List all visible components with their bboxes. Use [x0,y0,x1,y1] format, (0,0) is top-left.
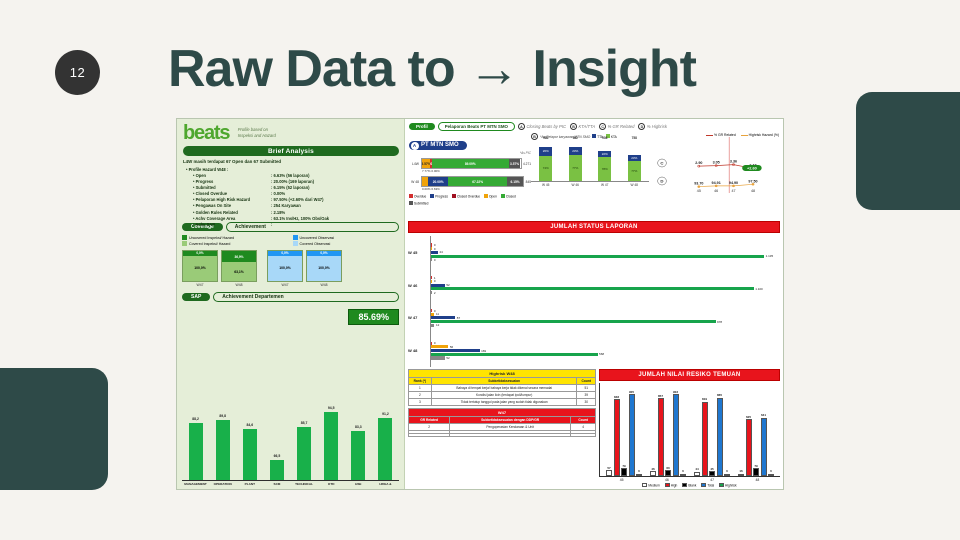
department-bar: 88,2 [189,423,203,480]
department-bar: 91,2 [378,418,392,480]
marker-c: C% GR Related [599,123,634,130]
risk-bar-value: 60 [666,466,669,470]
status-bar-closed: 1.135 [431,255,778,258]
risk-x-label: 46 [665,478,669,482]
pt-mtn-smo-label: PT MTN SMO [421,142,459,148]
risk-bar-value: 848 [614,395,619,399]
table-column-header: Count [577,378,596,385]
legend-swatch [409,194,413,198]
table-row: 2Pengoperasian Kendaraan & Unit4 [409,424,596,431]
table-row: 3Tidak tertutup tanggul pada jalan yang … [409,399,596,406]
risk-bar-value: 44 [695,467,698,471]
bar-fill [431,309,432,312]
coverage-charts: 0,0%100,0%W4736,9%63,1%W480,0%100,0%W470… [182,250,399,287]
coverage-legend-item: Uncovered Inspeksi/ Hazard [182,235,289,240]
coverage-legend-item: Covered Inspeksi/ Hazard [182,241,289,246]
status-y-label: W 47 [408,315,430,320]
status-bar-overdue: 1 [431,276,778,279]
tables-column: Highrisk W48 Rank (*)SubketidaksesuaianC… [408,369,596,487]
svg-text:C: C [660,161,663,166]
gr-table: W47 GR RelatedSubketidaksesuaian dengan … [408,408,596,437]
department-bar: 84,6 [243,429,257,480]
stacked-bar-row: L4W3.57%0.00%89.09%3.57%4.271 [409,158,531,169]
risk-bar-group: 46857609030 [650,383,686,476]
tta-segment: 26% [539,147,552,156]
coverage-uncovered: 36,9% [222,251,256,262]
status-bar-submitted: 52 [431,356,778,359]
risk-bar-highrisk: 0 [636,474,642,476]
status-bar-group: 05616956852 [431,341,778,361]
decorative-shape-top-right [856,92,960,210]
status-bar-value: 2 [434,291,436,295]
stacked-bar-label: L4W [409,162,421,166]
page-number-badge: 12 [55,50,100,95]
status-bar-open: 0 [431,280,778,283]
status-bar-group: 10521.1002 [431,275,778,295]
bar-fill [431,287,754,290]
risk-bar-value: 46 [651,467,654,471]
table-cell: 1 [409,385,432,392]
bar-fill [431,258,432,261]
risk-bar-value: 905 [629,390,634,394]
bar-fill [431,243,432,246]
brief-row-key: • Achv SAP [193,222,271,228]
status-bar-overdue: 0 [431,243,778,246]
risk-bar-value: 0 [682,469,684,473]
department-bar: 89,8 [216,420,230,480]
line-value-label: 97.50 [748,179,757,183]
column-bar: 98326%74% [539,142,552,181]
column-x-label: W 47 [601,183,608,187]
risk-bar-medium: 16 [738,474,744,476]
line-value-label: 2.90 [695,161,702,165]
marker-b-icon: B [570,123,577,130]
risk-bar-value: 0 [770,469,772,473]
coverage-legend-item: Covered Observasi [293,241,400,246]
coverage-legend-left: Uncovered Inspeksi/ HazardCovered Inspek… [182,235,289,247]
kta-tta-columns: 98326%74%98223%77%90822%78%75823%77% [531,142,649,182]
coverage-stack: 0,0%100,0% [182,250,218,282]
risk-bar-value: 79 [622,464,625,468]
marker-a-icon: A [518,123,525,130]
table-cell: 4 [571,424,596,431]
risk-bar-value: 903 [673,390,678,394]
brief-row-value: : [271,222,399,228]
department-label: TECHNICAL [291,482,318,486]
table-cell: 3 [409,399,432,406]
line-x-label: 45 [697,189,701,193]
marker-label: % Highrisk [647,124,667,129]
risk-bar-medium: 46 [650,471,656,475]
line-value-label: 94.91 [712,181,721,185]
risk-bar-group: 44819458650 [694,383,730,476]
status-bar-progress: 52 [431,284,778,287]
pane-a-axis-note: *As PIC [409,151,531,155]
department-value: 84,6 [247,423,254,427]
risk-bar-value: 865 [717,393,722,397]
legend-item: Closed Overdue [452,194,480,199]
column-bar: 98223%77% [569,142,582,181]
coverage-legend-item: Uncovered Observasi [293,235,400,240]
brief-analysis-header: Brief Analysis [183,146,399,156]
risk-bar-blank: 79 [621,468,627,475]
status-bar-group: 0118797812 [431,308,778,328]
decorative-shape-bottom-left [0,368,108,490]
table-cell [450,434,571,437]
status-bar-progress: 87 [431,316,778,319]
department-value: 91,2 [382,412,389,416]
kta-segment: 77% [628,161,641,181]
line-point [732,185,734,187]
segment-closed: 89.09% [432,159,509,168]
department-label: MANAGEMENT [182,482,209,486]
department-value: 85,7 [301,421,308,425]
bar-fill [431,342,432,345]
marker-b: BKTA/TTA [570,123,595,130]
table-row: 2Kondisi jalan licin (terdapat ipoli/lum… [409,392,596,399]
highrisk-table-header: Rank (*)SubketidaksesuaianCount [409,378,596,385]
status-y-label: W 48 [408,348,430,353]
department-label: HRGA & [372,482,399,486]
kta-segment: 77% [569,155,582,181]
tagline-line-1: Profile based on [238,127,268,132]
marker-legend-list: AClosing Beats by PICBKTA/TTAC% GR Relat… [518,123,667,130]
department-value: 66,5 [274,454,281,458]
risk-bar-value: 57 [607,466,610,470]
risk-bar-value: 625 [746,415,751,419]
risk-bar-highrisk: 0 [768,474,774,476]
stacked-bar-label: W 48 [409,180,421,184]
coverage-bar: 0,0%100,0%W48 [306,250,342,287]
status-bar-progress: 24 [431,251,778,254]
department-label: OTD [318,482,345,486]
table-cell: 39 [577,392,596,399]
bar-fill [431,316,455,319]
stacked-bar-track: 3.57%0.00%89.09%3.57% [421,158,522,169]
status-bar-open: 0 [431,247,778,250]
marker-d: D% Highrisk [638,123,667,130]
table-row [409,434,596,437]
legend-item: Open [484,194,497,199]
risk-x-label: 47 [710,478,714,482]
kta-tta-x-labels: W 45W 46W 47W 48 [531,183,649,187]
coverage-group-observasi: 0,0%100,0%W470,0%100,0%W48 [267,250,342,287]
risk-bar-high: 857 [658,398,664,475]
highrisk-table-body: 1Bahaya di tempat kerja/ bahaya kerja ti… [409,385,596,406]
risk-bar-value: 857 [658,394,663,398]
department-value: 94,5 [328,406,335,410]
status-bar-value: 0 [434,258,436,262]
status-bar-closed: 978 [431,320,778,323]
status-chart-plot: W 45W 46W 47W 48 00241.135010521.1002011… [408,233,780,367]
bar-fill [431,291,432,294]
gr-highrisk-pane: % GR Related Highrisk Hazard (%) 2.903.0… [649,133,779,195]
table-row: 1Bahaya di tempat kerja/ bahaya kerja ti… [409,385,596,392]
coverage-bar: 36,9%63,1%W48 [221,250,257,287]
table-cell [571,434,596,437]
risk-bar-value: 45 [710,467,713,471]
table-cell: Bahaya di tempat kerja/ bahaya kerja tid… [431,385,577,392]
segment-submitted: 6.15% [507,177,523,186]
legend-swatch [409,201,413,205]
segment-closed: 67.22% [448,177,507,186]
table-column-header: Count [571,417,596,424]
coverage-x-label: W47 [182,283,218,287]
status-y-label: W 46 [408,283,430,288]
department-label: OPERATION [209,482,236,486]
status-bar-closed: 1.100 [431,287,778,290]
sap-achievement-label: Achievement Departemen [213,292,399,302]
dashboard-top-section: beats Profile based on Inspeksi and Haza… [177,119,783,219]
risk-chart: JUMLAH NILAI RESIKO TEMUAN 5784879905046… [599,369,780,487]
top-right-charts: A PT MTN SMO *As PIC L4W3.57%0.00%89.09%… [409,133,779,195]
line-point [715,185,717,187]
closing-beats-pane: A PT MTN SMO *As PIC L4W3.57%0.00%89.09%… [409,133,531,195]
department-bar: 94,5 [324,412,338,480]
line-value-label: 93.70 [694,182,703,186]
bar-fill [431,247,432,250]
column-total: 758 [632,136,637,140]
status-chart-title: JUMLAH STATUS LAPORAN [408,221,780,233]
marker-label: KTA/TTA [579,124,596,129]
highrisk-table: Highrisk W48 Rank (*)SubketidaksesuaianC… [408,369,596,406]
status-bar-submitted: 2 [431,291,778,294]
highrisk-table-title: Highrisk W48 [409,370,596,378]
table-cell: 30 [577,399,596,406]
gr-table-title: W47 [409,409,596,417]
department-label: SCM [263,482,290,486]
table-cell: 51 [577,385,596,392]
department-value: 89,8 [219,414,226,418]
risk-bar-value: 0 [726,469,728,473]
profil-chip: Profil [409,123,435,130]
pt-mtn-smo-badge: A PT MTN SMO [409,141,467,150]
status-bar-open: 11 [431,313,778,316]
bar-fill [431,255,764,258]
legend-item: Highrisk [719,483,737,488]
risk-bar-value: 641 [761,413,766,417]
marker-b-icon: B [531,133,538,140]
legend-swatch [484,194,488,198]
coverage-x-label: W48 [221,283,257,287]
legend-item: Progress [430,194,448,199]
coverage-group-inspeksi: 0,0%100,0%W4736,9%63,1%W48 [182,250,257,287]
risk-bar-total: 905 [629,394,635,475]
bar-fill [431,276,432,279]
table-cell: 2 [409,424,450,431]
risk-bar-blank: 45 [709,471,715,475]
risk-bar-group: 16625796410 [738,383,774,476]
bar-fill [431,320,716,323]
status-chart-y-labels: W 45W 46W 47W 48 [408,236,430,367]
gr-highrisk-line-chart: 2.903.053.362.1893.7094.9194.9097.50 C D… [649,137,779,193]
line-value-label: 94.90 [729,181,738,185]
marker-label: Closing Beats by PIC [526,124,566,129]
bar-fill [431,353,598,356]
sap-achievement-badge: 85.69% [348,309,399,325]
line-chart-svg: 2.903.053.362.1893.7094.9194.9097.50 C D… [649,137,779,193]
legend-item: Closed [501,194,516,199]
risk-bar-total: 641 [761,418,767,476]
risk-chart-x-labels: 45464748 [599,478,780,482]
risk-bar-group: 57848799050 [606,383,642,476]
risk-chart-legend: MediumHighBlankTotalHighrisk [599,483,780,488]
table-cell: Pengoperasian Kendaraan & Unit [450,424,571,431]
coverage-stack: 36,9%63,1% [221,250,257,282]
bar-fill [431,284,445,287]
status-bar-overdue: 0 [431,309,778,312]
status-bar-closed: 568 [431,353,778,356]
dashboard-body: Coverage Achievement Uncovered Inspeksi/… [177,219,783,489]
line-x-label: 48 [751,189,755,193]
marker-label: % GR Related [608,124,635,129]
risk-bar-blank: 60 [665,470,671,475]
marker-c-icon: C [599,123,606,130]
risk-bar-highrisk: 0 [724,474,730,476]
department-chart: 88,289,884,666,585,794,583,391,2 MANAGEM… [182,329,399,486]
column-bar: 75823%77% [628,142,641,181]
bar-fill [431,349,480,352]
bar-fill [431,324,434,327]
page-title: Raw Data to → Insight [168,42,848,97]
table-column-header: GR Related [409,417,450,424]
tta-segment: 23% [569,147,582,155]
column-total: 982 [573,136,578,140]
legend-item: High [665,483,678,488]
risk-bar-total: 903 [673,394,679,475]
legend-item: Medium [642,483,659,488]
coverage-covered: 100,0% [307,256,341,281]
legend-item: Overdue [409,194,426,199]
department-bar: 85,7 [297,427,311,480]
bar-fill [431,280,432,283]
status-bar-value: 12 [436,323,439,327]
line-point [698,186,700,188]
stacked-bar-sublabel: 7.77% 0.00% [409,169,531,173]
department-bar: 83,3 [351,431,365,479]
department-bar: 66,5 [270,460,284,480]
legend-item: Blank [682,483,696,488]
coverage-sap-column: Coverage Achievement Uncovered Inspeksi/… [177,219,405,489]
dashboard-header-strip: Profil Pelaporan Beats PT MTN SMO AClosi… [405,119,783,219]
sap-pill: SAP [182,293,210,301]
risk-bar-value: 0 [638,469,640,473]
svg-text:+2.60: +2.60 [747,167,757,171]
coverage-x-label: W48 [306,283,342,287]
brief-analysis-panel: beats Profile based on Inspeksi and Haza… [177,119,405,219]
risk-bar-medium: 57 [606,470,612,475]
header-chip-row: Profil Pelaporan Beats PT MTN SMO AClosi… [409,122,779,131]
legend-swatch [430,194,434,198]
status-bar-progress: 169 [431,349,778,352]
status-y-label: W 45 [408,250,430,255]
status-bar-submitted: 12 [431,324,778,327]
risk-bar-value: 16 [739,469,742,473]
risk-bar-blank: 79 [753,468,759,475]
brief-analysis-body: L4W masih terdapat 67 Open dan 67 Submit… [183,159,399,228]
table-column-header: Subketidaksesuaian [431,378,577,385]
column-x-label: W 45 [542,183,549,187]
bar-fill [431,345,448,348]
tta-segment: 22% [598,151,611,158]
risk-bar-highrisk: 0 [680,474,686,476]
stacked-bar-sublabel: 0.00% 6.63% [409,187,531,191]
legend-swatch [452,194,456,198]
legend-item: Submitted [409,201,428,206]
risk-bar-total: 865 [717,398,723,476]
tagline-line-2: Inspeksi and Hazard [238,133,276,138]
line-x-label: 46 [714,189,718,193]
risk-bar-value: 819 [702,397,707,401]
pane-a-legend: OverdueProgressClosed OverdueOpenClosedS… [409,194,531,205]
department-label: PLANT [236,482,263,486]
sap-pill-row: SAP Achievement Departemen [182,292,399,302]
department-bars: 88,289,884,666,585,794,583,391,2 [182,403,399,481]
coverage-bar: 0,0%100,0%W47 [182,250,218,287]
bar-fill [431,251,438,254]
beats-logo: beats [183,123,229,143]
line-value-label: 3.36 [730,160,737,164]
table-cell: 2 [409,392,432,399]
marker-d-icon: D [638,123,645,130]
coverage-covered: 63,1% [222,262,256,281]
status-bar-submitted: 0 [431,258,778,261]
stacked-bar-rows: L4W3.57%0.00%89.09%3.57%4.2717.77% 0.00%… [409,158,531,191]
column-x-label: W 46 [572,183,579,187]
risk-bar-high: 625 [746,419,752,475]
coverage-stack: 0,0%100,0% [306,250,342,282]
department-label: HSE [345,482,372,486]
legend-swatch [501,194,505,198]
column-x-label: W 48 [631,183,638,187]
coverage-legend: Uncovered Inspeksi/ HazardCovered Inspek… [182,235,399,247]
risk-bar-value: 79 [754,464,757,468]
brief-row-list: • Open: 6.63% (56 laporan)• Progress: 20… [183,173,399,228]
status-risk-column: JUMLAH STATUS LAPORAN W 45W 46W 47W 48 0… [405,219,783,489]
department-value: 88,2 [192,417,199,421]
column-bar: 90822%78% [598,142,611,181]
risk-bar-high: 819 [702,402,708,476]
stacked-bar-total: 4.271 [523,162,531,166]
marker-a: AClosing Beats by PIC [518,123,566,130]
bar-fill [431,313,434,316]
table-cell: Tidak tertutup tanggul pada jalan yang s… [431,399,577,406]
table-column-header: Rank (*) [409,378,432,385]
line-value-label: 3.05 [713,161,720,165]
risk-x-label: 48 [755,478,759,482]
department-value: 83,3 [355,425,362,429]
coverage-covered: 100,0% [268,256,302,281]
kta-segment: 78% [598,157,611,181]
legend-item: Total [701,483,714,488]
beats-tagline: Profile based on Inspeksi and Hazard [238,127,276,139]
stacked-bar-row: W 4820.00%67.22%6.15%845 [409,176,531,187]
coverage-x-label: W47 [267,283,303,287]
kta-segment: 74% [539,156,552,181]
segment-open: 3.57% [422,159,430,168]
gr-table-header: GR RelatedSubketidaksesuaian dengan DDP/… [409,417,596,424]
status-chart-bars: 00241.135010521.100201187978120561695685… [430,236,778,367]
svg-text:D: D [660,179,663,184]
department-x-labels: MANAGEMENTOPERATIONPLANTSCMTECHNICALOTDH… [182,482,399,486]
table-cell [409,434,450,437]
table-cell: Kondisi jalan licin (terdapat ipoli/lump… [431,392,577,399]
marker-a-icon: A [411,142,419,150]
coverage-covered: 100,0% [183,256,217,281]
profil-label-chip: Pelaporan Beats PT MTN SMO [438,122,515,131]
brief-lead-text: L4W masih terdapat 67 Open dan 67 Submit… [183,159,399,166]
table-column-header: Subketidaksesuaian dengan DDP/GR [450,417,571,424]
